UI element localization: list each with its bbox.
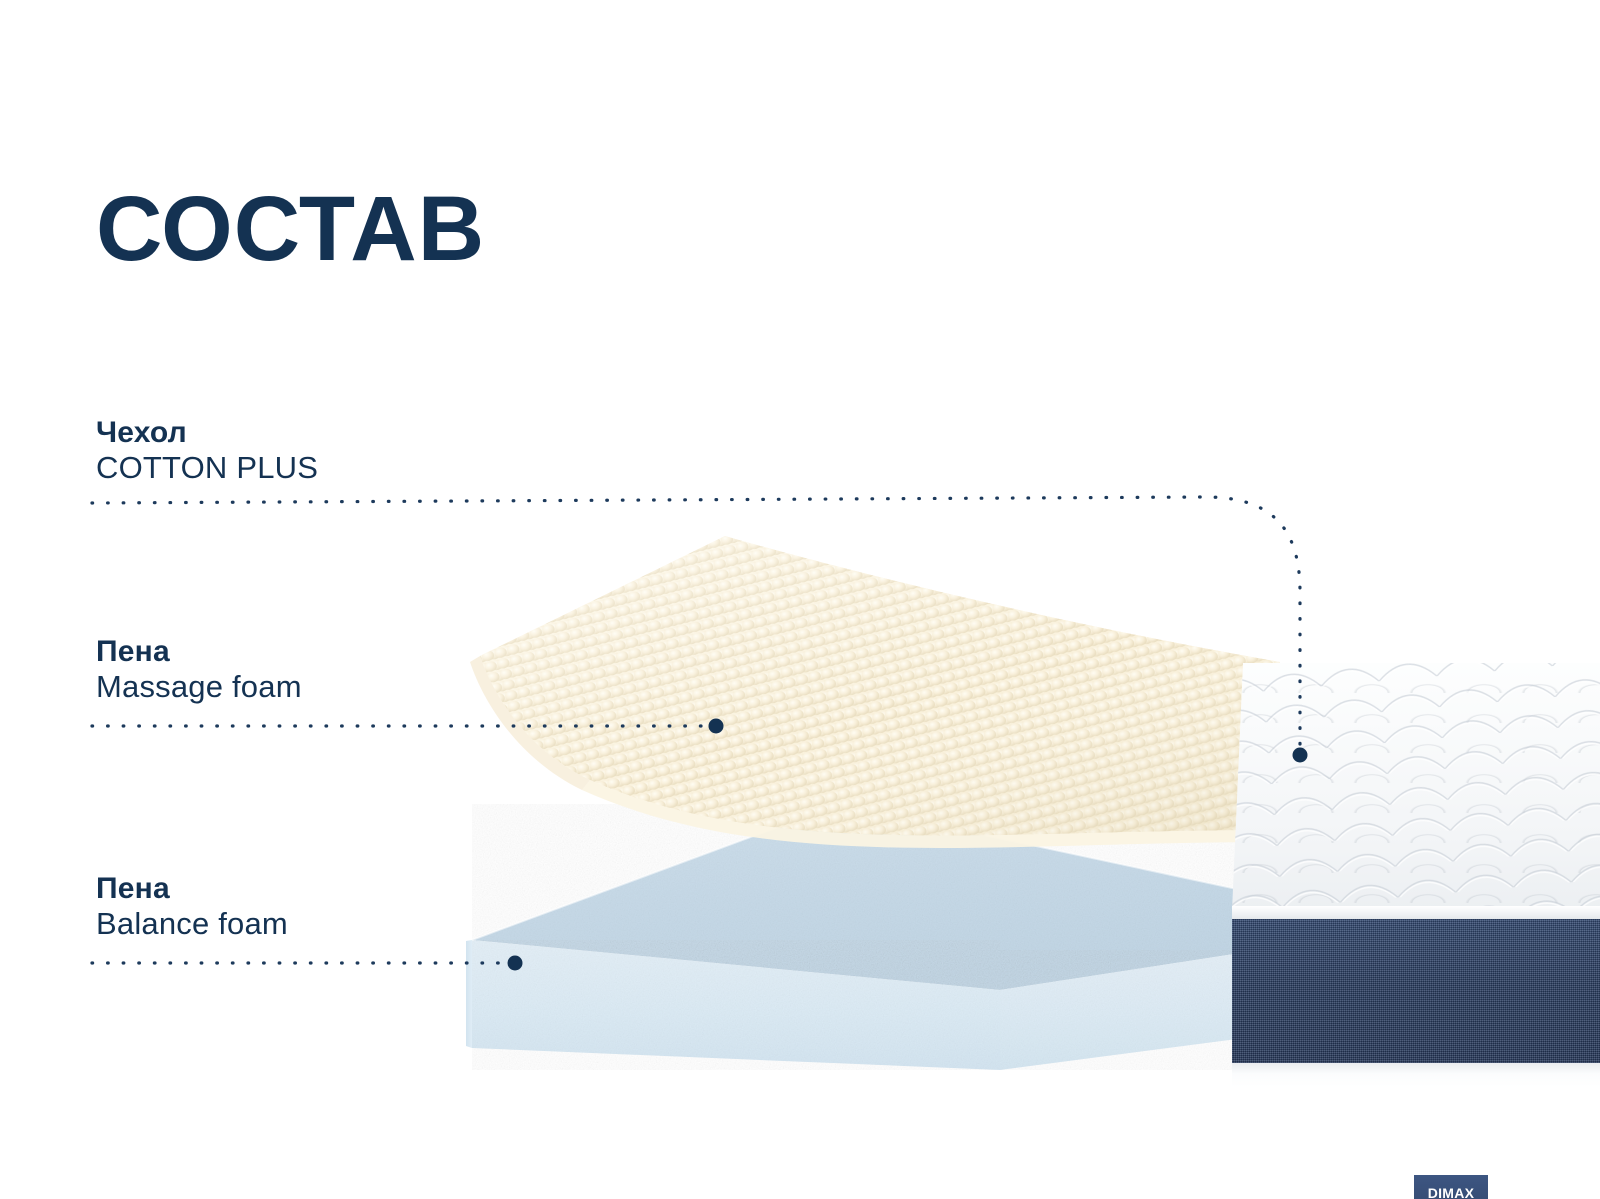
- massage-foam-layer: [470, 530, 1280, 950]
- layer-label-balance-subtitle: Balance foam: [96, 906, 288, 943]
- mattress-base: DIMAX ТВОЙ ЗДОРОВЫЙ СОН: [1232, 663, 1600, 1087]
- layer-label-cover-title: Чехол: [96, 415, 318, 450]
- layer-label-balance: Пена Balance foam: [96, 871, 288, 943]
- page-title: СОСТАВ: [96, 183, 485, 275]
- layer-label-cover-subtitle: COTTON PLUS: [96, 450, 318, 487]
- mattress-cover-piping-top: [1232, 906, 1600, 920]
- layer-label-massage: Пена Massage foam: [96, 634, 302, 706]
- composition-infographic: СОСТАВ Чехол COTTON PLUS Пена Massage fo…: [0, 0, 1600, 1199]
- mattress-cover-top: [1232, 663, 1600, 911]
- dimax-logo-badge: DIMAX ТВОЙ ЗДОРОВЫЙ СОН: [1414, 1175, 1488, 1199]
- mattress-side-band: DIMAX ТВОЙ ЗДОРОВЫЙ СОН: [1232, 919, 1600, 1063]
- dimax-brand-name: DIMAX: [1428, 1186, 1475, 1199]
- mattress-bottom-piping: [1232, 1063, 1600, 1087]
- layer-label-massage-title: Пена: [96, 634, 302, 669]
- cover-quilt-pattern: [1232, 663, 1600, 911]
- layer-label-balance-title: Пена: [96, 871, 288, 906]
- layer-label-cover: Чехол COTTON PLUS: [96, 415, 318, 487]
- layer-label-massage-subtitle: Massage foam: [96, 669, 302, 706]
- massage-foam-shape: [470, 530, 1280, 950]
